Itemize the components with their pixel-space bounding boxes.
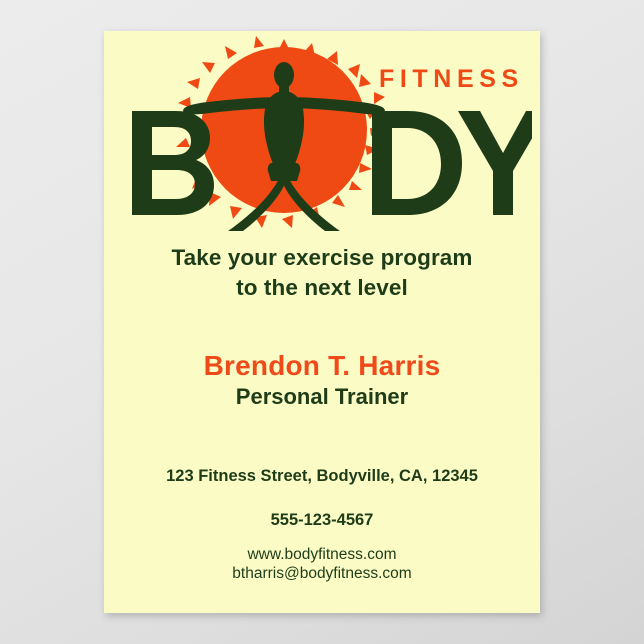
tagline-line-1: Take your exercise program — [104, 243, 540, 273]
logo-lockup: FITNESS — [104, 31, 540, 231]
poster-preview-canvas: FITNESS Take your exercise program to th… — [0, 0, 644, 644]
svg-text:FITNESS: FITNESS — [379, 65, 524, 93]
contact-email[interactable]: btharris@bodyfitness.com — [104, 564, 540, 583]
tagline-line-2: to the next level — [104, 273, 540, 303]
tagline: Take your exercise program to the next l… — [104, 243, 540, 303]
logo-letter-d — [372, 111, 462, 215]
contact-web-block: www.bodyfitness.com btharris@bodyfitness… — [104, 545, 540, 583]
body-fitness-logo-svg: FITNESS — [112, 35, 532, 231]
contact-phone: 555-123-4567 — [104, 509, 540, 531]
contact-website[interactable]: www.bodyfitness.com — [104, 545, 540, 564]
contact-address: 123 Fitness Street, Bodyville, CA, 12345 — [104, 465, 540, 487]
logo-letter-y — [458, 111, 532, 215]
logo-letter-b — [132, 111, 214, 215]
trainer-name: Brendon T. Harris — [104, 349, 540, 383]
fitness-poster[interactable]: FITNESS Take your exercise program to th… — [104, 31, 540, 613]
trainer-title: Personal Trainer — [104, 383, 540, 411]
logo-word-fitness: FITNESS — [379, 65, 524, 93]
